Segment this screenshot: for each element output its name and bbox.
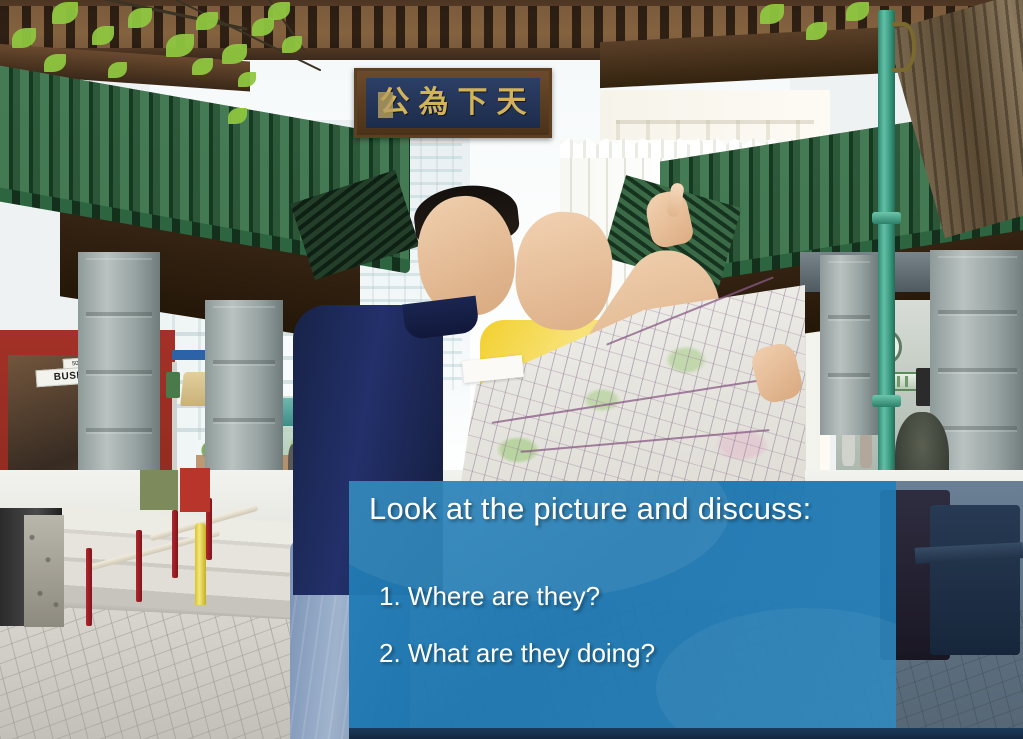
granite-trash-can (24, 515, 64, 627)
discussion-question-1: 1. Where are they? (379, 581, 655, 612)
slide-canvas: 公 為 下 天 500 BUSH (0, 0, 1023, 739)
plaque-character-4: 天 (497, 88, 527, 118)
traffic-signal-head (166, 372, 180, 398)
handrail-post (172, 510, 178, 578)
gate-plaque: 公 為 下 天 (354, 68, 552, 138)
stone-pillar-right-inner (820, 255, 878, 435)
red-newspaper-box (180, 468, 210, 512)
discussion-question-list: 1. Where are they? 2. What are they doin… (379, 581, 655, 695)
lamp-post-scroll-icon (892, 22, 916, 72)
plaque-character-3: 下 (458, 88, 488, 118)
lamp-post-ring (872, 395, 901, 407)
plaque-seal-icon (378, 92, 393, 118)
green-utility-box (140, 470, 178, 510)
plaque-inner-field: 公 為 下 天 (366, 78, 540, 128)
bottom-dark-band (349, 728, 1023, 739)
pillar-panels (828, 261, 870, 429)
green-lamp-post (878, 10, 895, 480)
yellow-bollard (195, 523, 206, 605)
handrail-post (136, 530, 142, 602)
handrail-post (86, 548, 92, 626)
plaque-character-2: 為 (419, 88, 449, 118)
blue-street-sign (172, 350, 206, 360)
discussion-question-2: 2. What are they doing? (379, 638, 655, 669)
lamp-post-ring (872, 212, 901, 224)
discussion-callout-box: Look at the picture and discuss: 1. Wher… (349, 481, 896, 728)
callout-title: Look at the picture and discuss: (369, 491, 811, 527)
